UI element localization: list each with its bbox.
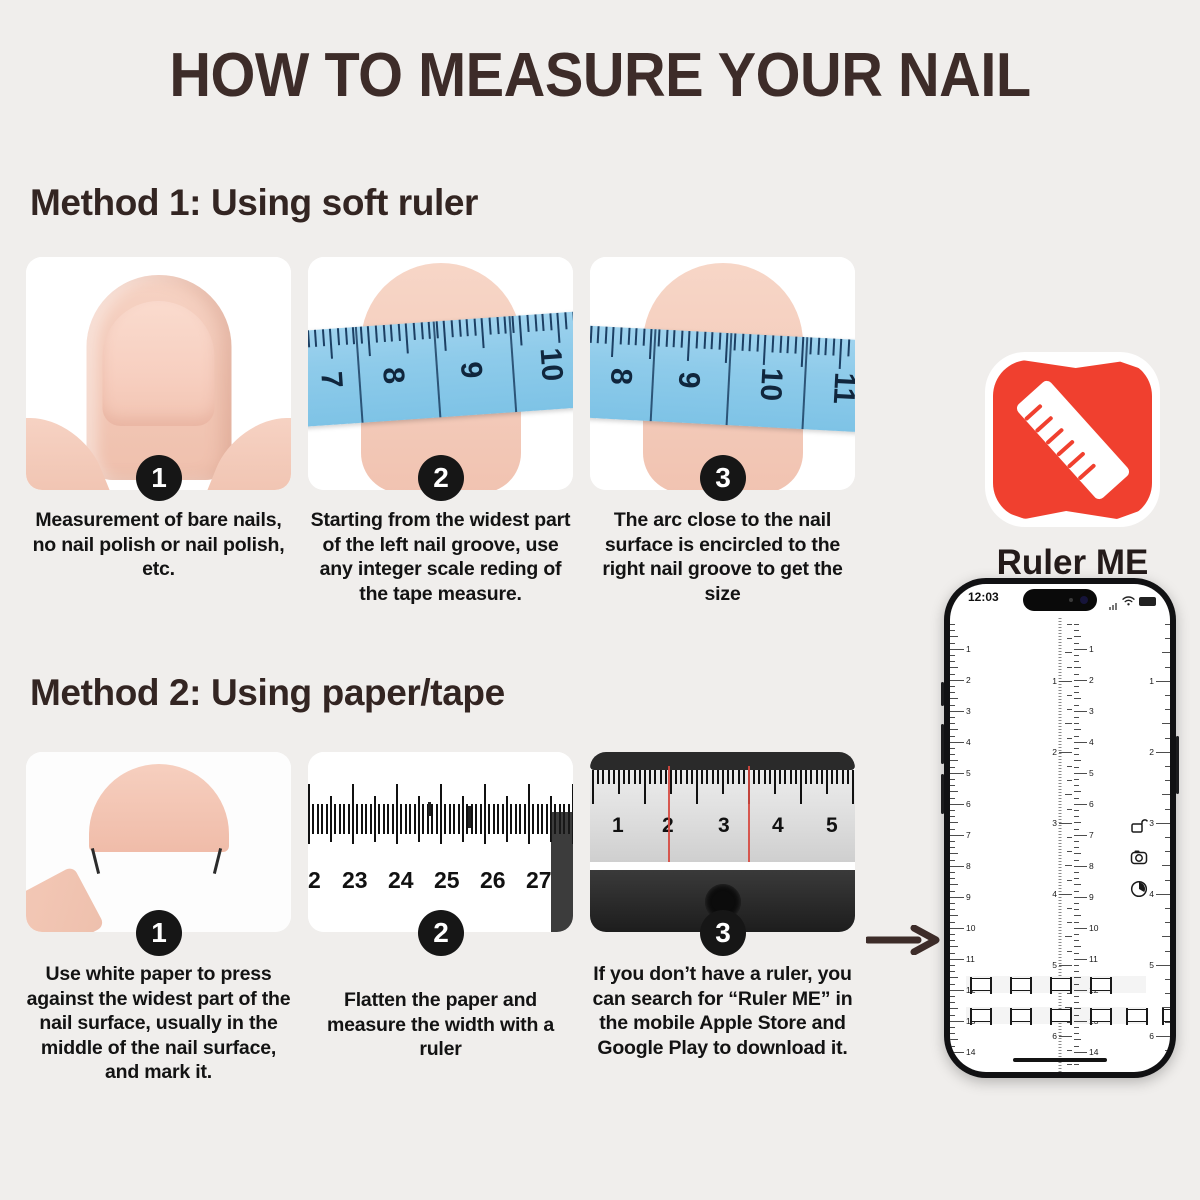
ruler-number: 24 — [388, 867, 414, 894]
ruler-number: 3 — [718, 814, 730, 838]
measure-chip[interactable] — [1010, 978, 1032, 991]
metal-ruler-photo: 1 2 3 4 5 — [590, 752, 855, 932]
phone-screen[interactable]: 12:03 1234567891011121314 123456 1234567… — [950, 584, 1170, 1072]
ruler-number: 1 — [612, 814, 624, 838]
ruler-tick-label: 7 — [1089, 830, 1094, 840]
caption-m1-step2: Starting from the widest part of the lef… — [308, 508, 573, 606]
method-1-heading: Method 1: Using soft ruler — [30, 182, 478, 224]
measure-chip[interactable] — [1090, 978, 1112, 991]
ruler-tick-label: 1 — [966, 644, 971, 654]
ruler-number: 26 — [480, 867, 506, 894]
ruler-tick-label: 5 — [1052, 960, 1057, 970]
step-badge: 2 — [418, 910, 464, 956]
pie-clock-icon[interactable] — [1130, 880, 1148, 898]
measure-chip[interactable] — [970, 1009, 992, 1022]
tape-number: 11 — [826, 371, 855, 404]
ruler-tick-label: 5 — [1089, 768, 1094, 778]
photo-card-m2-step2: 2 23 24 25 26 27 — [308, 752, 573, 932]
tape-number: 9 — [453, 361, 488, 380]
ruler-tick-label: 2 — [1149, 747, 1154, 757]
step-badge: 1 — [136, 910, 182, 956]
measure-chip[interactable] — [1050, 1009, 1072, 1022]
paper-ruler-photo: 2 23 24 25 26 27 — [308, 752, 573, 932]
ruler-tick-label: 10 — [966, 923, 975, 933]
tape-number: 7 — [313, 370, 348, 389]
right-arrow-icon — [866, 925, 946, 955]
measure-chip[interactable] — [970, 978, 992, 991]
measure-chip[interactable] — [1126, 1009, 1148, 1022]
ruler-tick-label: 6 — [1089, 799, 1094, 809]
tape-number: 10 — [753, 367, 789, 402]
camera-icon[interactable] — [1130, 848, 1148, 866]
ruler-tick-label: 14 — [966, 1047, 975, 1057]
ruler-tick-label: 2 — [1089, 675, 1094, 685]
measure-chip[interactable] — [1050, 978, 1072, 991]
ruler-number: 5 — [826, 814, 838, 838]
blue-tape-measure: 7 8 9 10 — [308, 311, 573, 427]
ruler-tick-label: 7 — [966, 830, 971, 840]
ruler-number: 4 — [772, 814, 784, 838]
page-title: HOW TO MEASURE YOUR NAIL — [42, 40, 1158, 111]
ruler-tick-label: 11 — [1089, 954, 1098, 964]
battery-icon — [1139, 597, 1156, 606]
ruler-tick-label: 4 — [1052, 889, 1057, 899]
wifi-icon — [1122, 596, 1135, 606]
measure-chip[interactable] — [1010, 1009, 1032, 1022]
app-promo[interactable]: Ruler ME — [985, 352, 1160, 583]
home-indicator[interactable] — [1013, 1058, 1107, 1062]
ruler-tick-label: 6 — [1149, 1031, 1154, 1041]
phone-mockup: 12:03 1234567891011121314 123456 1234567… — [944, 578, 1176, 1078]
chip-row — [966, 1007, 1146, 1024]
ruler-tick-label: 4 — [966, 737, 971, 747]
left-ruler: 1234567891011121314 — [950, 618, 1008, 1072]
ruler-tick-label: 10 — [1089, 923, 1098, 933]
center-left-ruler: 123456 — [1038, 618, 1072, 1072]
ruler-tick-label: 8 — [966, 861, 971, 871]
app-name-label: Ruler ME — [985, 543, 1160, 583]
ruler-number: 27 — [526, 867, 552, 894]
ruler-tick-label: 6 — [966, 799, 971, 809]
ruler-tick-label: 14 — [1089, 1047, 1098, 1057]
caption-m1-step3: The arc close to the nail surface is enc… — [590, 508, 855, 606]
ruler-tick-label: 6 — [1052, 1031, 1057, 1041]
center-right-ruler: 1234567891011121314 — [1074, 618, 1116, 1072]
blue-tape-measure: 8 9 10 11 — [590, 325, 855, 433]
ruler-tick-label: 3 — [966, 706, 971, 716]
step-badge: 2 — [418, 455, 464, 501]
photo-card-m2-step3: 1 2 3 4 5 — [590, 752, 855, 932]
ruler-tick-label: 5 — [1149, 960, 1154, 970]
photo-card-m2-step1 — [26, 752, 291, 932]
measure-chip[interactable] — [1162, 1009, 1170, 1022]
ruler-tick-label: 1 — [1149, 676, 1154, 686]
caption-m1-step1: Measurement of bare nails, no nail polis… — [26, 508, 291, 582]
unlock-icon[interactable] — [1130, 816, 1148, 834]
ruler-number: 2 — [308, 867, 321, 894]
status-bar: 12:03 — [950, 584, 1170, 614]
ruler-tick-label: 8 — [1089, 861, 1094, 871]
ruler-tick-label: 2 — [966, 675, 971, 685]
caption-m2-step3: If you don’t have a ruler, you can searc… — [590, 962, 855, 1060]
ruler-tick-label: 3 — [1089, 706, 1094, 716]
chip-row — [966, 976, 1146, 993]
ruler-tick-label: 3 — [1052, 818, 1057, 828]
ruler-app-icon[interactable] — [985, 352, 1160, 527]
screen-side-icons[interactable] — [1130, 816, 1150, 912]
step-badge: 1 — [136, 455, 182, 501]
method-2-heading: Method 2: Using paper/tape — [30, 672, 505, 714]
ruler-tick-label: 9 — [1089, 892, 1094, 902]
tape-number: 9 — [671, 371, 706, 389]
step-badge: 3 — [700, 910, 746, 956]
ruler-tick-label: 4 — [1089, 737, 1094, 747]
dynamic-island — [1023, 589, 1097, 611]
caption-m2-step2: Flatten the paper and measure the width … — [308, 988, 573, 1062]
ruler-number: 25 — [434, 867, 460, 894]
nail-on-paper-photo — [26, 752, 291, 932]
ruler-tick-label: 9 — [966, 892, 971, 902]
signal-bars-icon — [1109, 592, 1118, 610]
tape-number: 10 — [533, 347, 569, 383]
ruler-tick-label: 5 — [966, 768, 971, 778]
ruler-number: 23 — [342, 867, 368, 894]
tape-number: 8 — [375, 366, 410, 385]
caption-m2-step1: Use white paper to press against the wid… — [26, 962, 291, 1085]
ruler-tick-label: 1 — [1089, 644, 1094, 654]
step-badge: 3 — [700, 455, 746, 501]
ruler-tick-label: 1 — [1052, 676, 1057, 686]
ruler-tick-label: 11 — [966, 954, 975, 964]
measure-chip[interactable] — [1090, 1009, 1112, 1022]
tape-number: 8 — [603, 367, 638, 385]
ruler-tick-label: 2 — [1052, 747, 1057, 757]
status-time: 12:03 — [968, 590, 999, 604]
